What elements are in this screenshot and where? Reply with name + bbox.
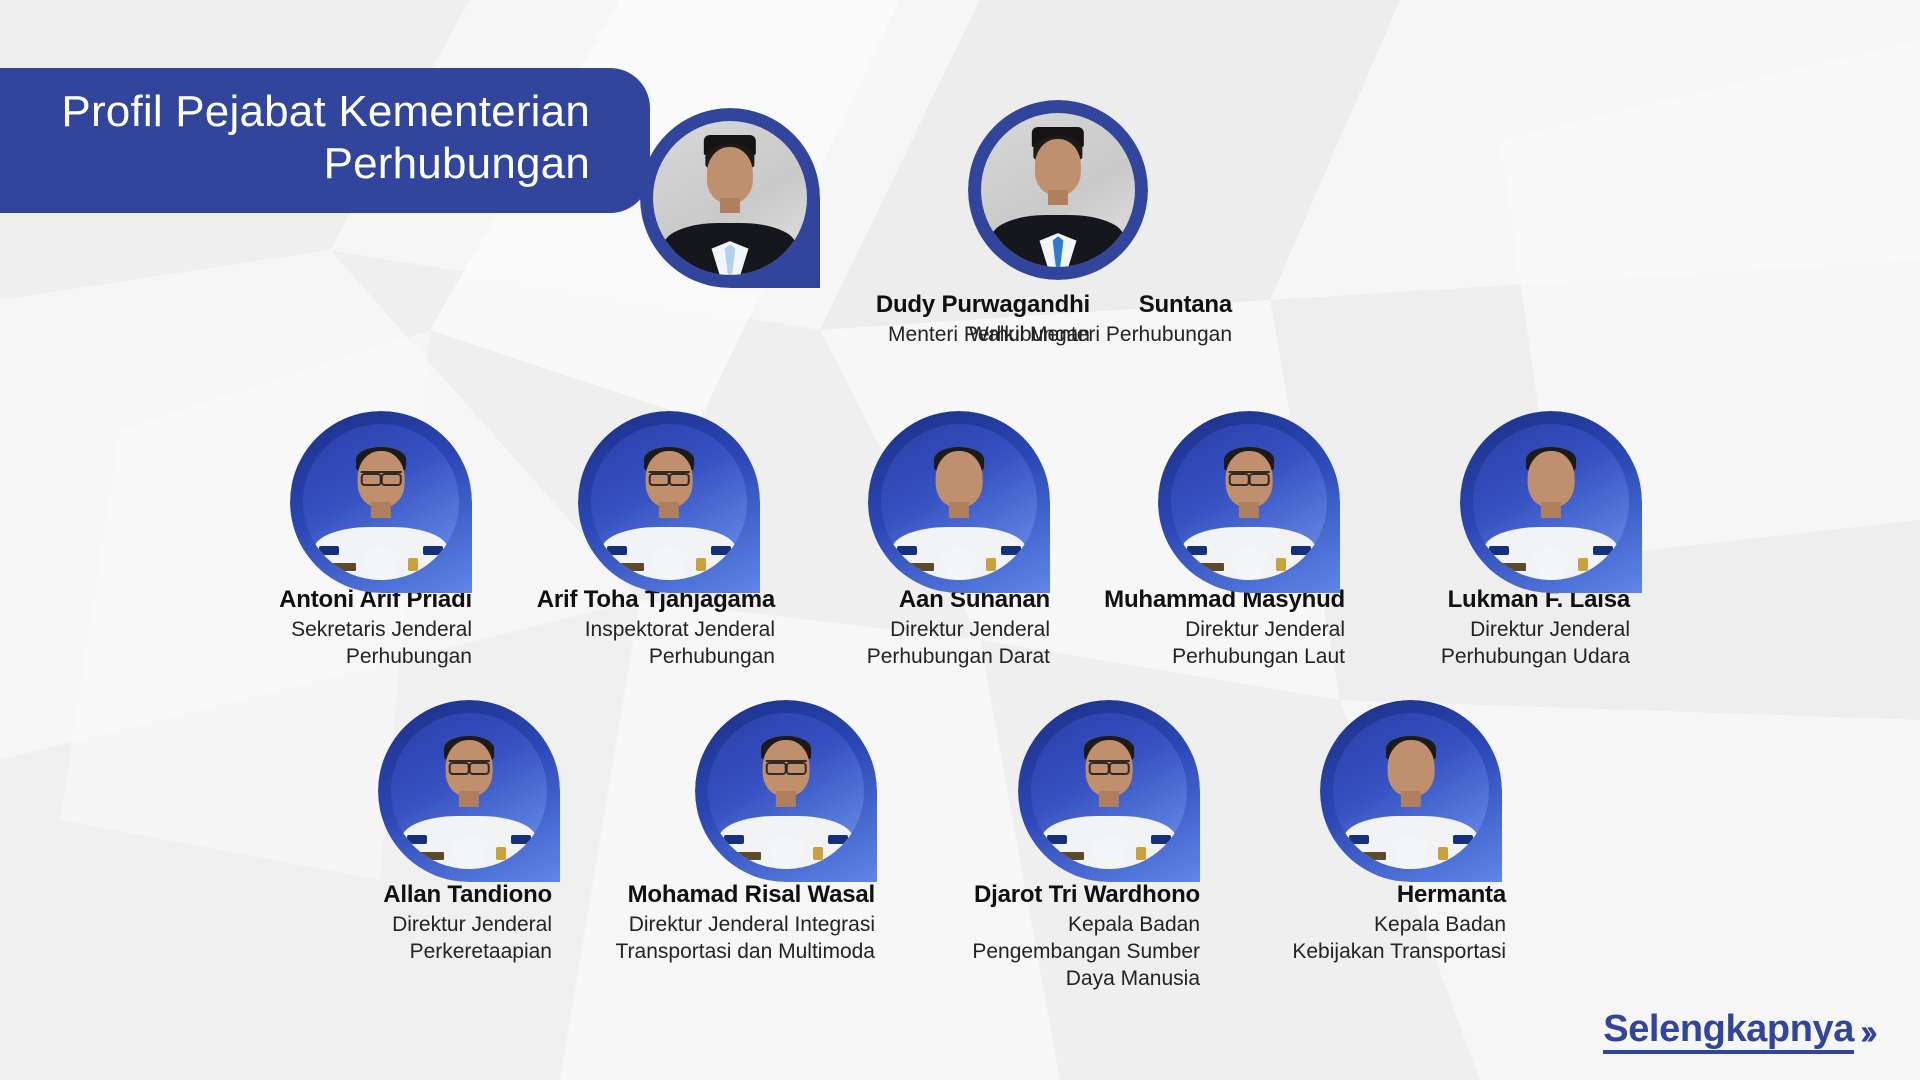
neck [1048,190,1068,205]
name-tag [1501,563,1526,571]
neck [1401,791,1421,807]
name-tag [1361,852,1386,860]
person-name: Suntana [969,290,1232,320]
uniform-emblem [1438,847,1449,859]
person-role: Direktur Jenderal Perhubungan Udara [1441,617,1630,671]
epaulette-left [1489,546,1509,555]
person-role: Walkil Menteri Perhubungan [969,322,1232,349]
person-card[interactable]: Lukman F. LaisaDirektur Jenderal Perhubu… [1110,411,1630,671]
person-card[interactable]: HermantaKepala Badan Kebijakan Transport… [986,700,1506,966]
neck [1541,502,1561,518]
epaulette-left [1349,835,1369,844]
face [1035,139,1081,194]
person-role: Kepala Badan Kebijakan Transportasi [1292,912,1506,966]
person-caption: HermantaKepala Badan Kebijakan Transport… [1292,880,1506,966]
person-caption: Lukman F. LaisaDirektur Jenderal Perhubu… [1441,585,1630,671]
page-title-banner: Profil Pejabat Kementerian Perhubungan [0,68,650,213]
profile-board: Profil Pejabat Kementerian Perhubungan D… [0,0,1920,1080]
person-caption: SuntanaWalkil Menteri Perhubungan [969,290,1232,349]
uniform-emblem [1578,558,1589,570]
portrait-figure [981,113,1135,267]
epaulette-right [1453,835,1473,844]
selengkapnya-label: Selengkapnya [1603,1010,1854,1054]
page-title: Profil Pejabat Kementerian Perhubungan [61,86,590,190]
person-photo [1333,713,1489,869]
person-card[interactable]: SuntanaWalkil Menteri Perhubungan [712,100,1232,349]
person-avatar[interactable] [1460,411,1642,593]
person-photo [1473,424,1629,580]
face [1528,451,1575,507]
selengkapnya-link[interactable]: Selengkapnya ›› [1603,1010,1878,1054]
portrait-figure [1473,424,1629,580]
person-photo [981,113,1135,267]
face [1388,740,1435,796]
epaulette-right [1593,546,1613,555]
double-chevron-right-icon: ›› [1860,1014,1878,1050]
person-avatar[interactable] [1320,700,1502,882]
person-name: Hermanta [1292,880,1506,910]
person-avatar[interactable] [968,100,1148,280]
portrait-figure [1333,713,1489,869]
